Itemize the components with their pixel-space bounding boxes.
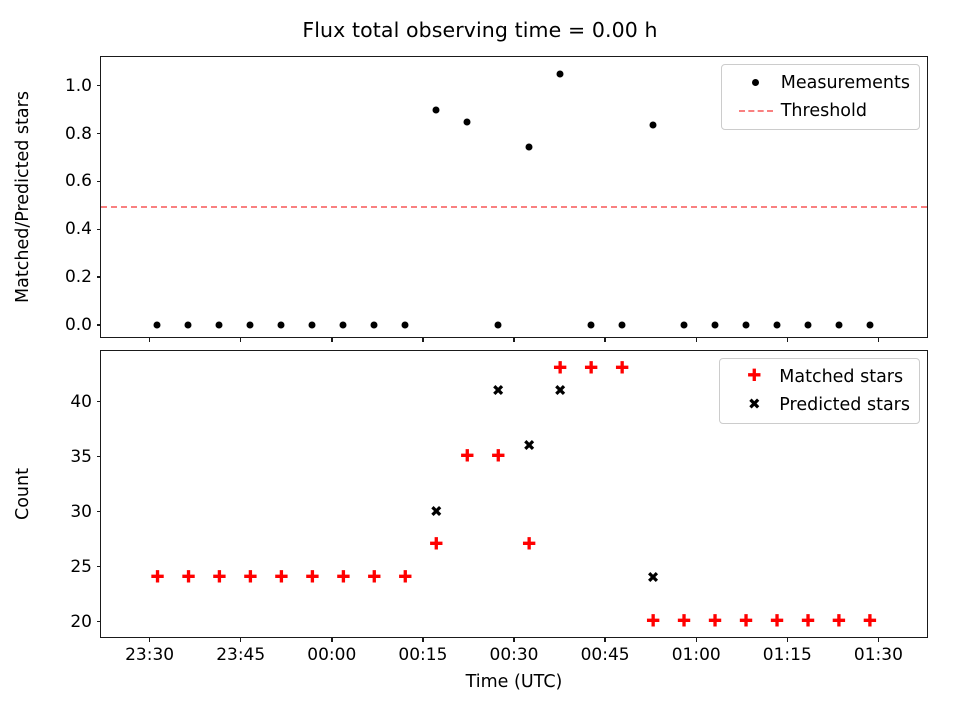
x-axis-tick (604, 637, 605, 642)
y-axis-tick-label: 0.6 (65, 171, 92, 191)
data-point-matched-star: ✚ (274, 569, 288, 586)
x-axis-tick (787, 337, 788, 342)
x-axis-tick (331, 637, 332, 642)
data-point-matched-star: ✚ (460, 448, 474, 465)
y-axis-tick-label: 20 (70, 612, 92, 632)
x-axis-tick-label: 00:30 (490, 645, 539, 665)
y-axis-tick (97, 621, 102, 622)
legend-entry[interactable]: ✖Predicted stars (729, 392, 910, 417)
data-point-measurement (371, 322, 378, 329)
y-axis-tick-label: 0.8 (65, 124, 92, 144)
y-axis-tick (97, 85, 102, 86)
x-axis-tick (149, 637, 150, 642)
data-point-measurement (185, 322, 192, 329)
data-point-predicted-star: ✖ (554, 383, 567, 398)
data-point-measurement (619, 322, 626, 329)
data-point-measurement (712, 322, 719, 329)
data-point-matched-star: ✚ (770, 613, 784, 630)
data-point-matched-star: ✚ (336, 569, 350, 586)
y-axis-tick (97, 456, 102, 457)
top-panel-y-axis-label: Matched/Predicted stars (13, 91, 33, 303)
data-point-measurement (402, 322, 409, 329)
data-point-matched-star: ✚ (522, 536, 536, 553)
x-axis-tick-label: 00:15 (398, 645, 447, 665)
y-axis-tick-label: 40 (70, 392, 92, 412)
y-axis-tick (97, 181, 102, 182)
bottom-panel-axes: Count 202530354023:3023:4500:0000:1500:3… (100, 350, 928, 638)
data-point-matched-star: ✚ (739, 613, 753, 630)
data-point-matched-star: ✚ (491, 448, 505, 465)
data-point-measurement (526, 143, 533, 150)
data-point-measurement (743, 322, 750, 329)
page-title: Flux total observing time = 0.00 h (0, 18, 960, 42)
data-point-measurement (681, 322, 688, 329)
x-axis-tick (422, 337, 423, 342)
x-axis-tick (240, 637, 241, 642)
data-point-measurement (340, 322, 347, 329)
x-axis-tick (604, 337, 605, 342)
data-point-measurement (835, 322, 842, 329)
data-point-measurement (650, 122, 657, 129)
data-point-matched-star: ✚ (863, 613, 877, 630)
legend-entry-label: Matched stars (779, 367, 903, 387)
x-axis-label: Time (UTC) (100, 672, 928, 692)
legend-entry[interactable]: ✚Matched stars (729, 364, 910, 389)
dashed-line-icon (731, 110, 781, 112)
data-point-measurement (773, 322, 780, 329)
legend-entry[interactable]: Measurements (731, 70, 910, 95)
dot-marker-icon (731, 79, 781, 86)
data-point-measurement (866, 322, 873, 329)
y-axis-tick-label: 35 (70, 447, 92, 467)
data-point-matched-star: ✚ (243, 569, 257, 586)
cross-marker-icon: ✖ (729, 397, 779, 412)
x-axis-tick (787, 637, 788, 642)
legend-entry-label: Measurements (781, 73, 910, 93)
x-axis-tick (878, 637, 879, 642)
data-point-matched-star: ✚ (150, 569, 164, 586)
x-axis-tick (513, 637, 514, 642)
x-axis-tick (422, 637, 423, 642)
y-axis-tick-label: 0.0 (65, 315, 92, 335)
legend-entry-label: Predicted stars (779, 395, 910, 415)
data-point-matched-star: ✚ (646, 613, 660, 630)
y-axis-tick (97, 566, 102, 567)
x-axis-tick-label: 23:45 (216, 645, 265, 665)
y-axis-tick (97, 276, 102, 277)
data-point-matched-star: ✚ (429, 536, 443, 553)
top-panel-axes: Matched/Predicted stars 0.00.20.40.60.81… (100, 56, 928, 338)
data-point-predicted-star: ✖ (430, 504, 443, 519)
plus-marker-icon: ✚ (729, 368, 779, 385)
data-point-measurement (464, 118, 471, 125)
figure-canvas: Flux total observing time = 0.00 h Match… (0, 0, 960, 720)
data-point-matched-star: ✚ (832, 613, 846, 630)
threshold-line (101, 206, 927, 208)
data-point-matched-star: ✚ (584, 360, 598, 377)
data-point-matched-star: ✚ (398, 569, 412, 586)
data-point-matched-star: ✚ (212, 569, 226, 586)
data-point-matched-star: ✚ (181, 569, 195, 586)
x-axis-tick (878, 337, 879, 342)
data-point-matched-star: ✚ (615, 360, 629, 377)
y-axis-tick-label: 0.4 (65, 219, 92, 239)
x-axis-tick (513, 337, 514, 342)
data-point-matched-star: ✚ (553, 360, 567, 377)
data-point-measurement (247, 322, 254, 329)
top-panel-legend[interactable]: MeasurementsThreshold (721, 64, 920, 130)
x-axis-tick (331, 337, 332, 342)
data-point-measurement (495, 322, 502, 329)
x-axis-tick (240, 337, 241, 342)
data-point-measurement (433, 106, 440, 113)
data-point-measurement (278, 322, 285, 329)
y-axis-tick (97, 511, 102, 512)
data-point-matched-star: ✚ (708, 613, 722, 630)
data-point-matched-star: ✚ (305, 569, 319, 586)
data-point-measurement (154, 322, 161, 329)
bottom-panel-legend[interactable]: ✚Matched stars✖Predicted stars (719, 358, 920, 424)
data-point-measurement (588, 322, 595, 329)
y-axis-tick (97, 133, 102, 134)
y-axis-tick-label: 1.0 (65, 76, 92, 96)
y-axis-tick (97, 401, 102, 402)
data-point-predicted-star: ✖ (523, 438, 536, 453)
y-axis-tick-label: 30 (70, 502, 92, 522)
x-axis-tick-label: 00:00 (307, 645, 356, 665)
y-axis-tick (97, 324, 102, 325)
x-axis-tick-label: 01:30 (854, 645, 903, 665)
x-axis-tick (149, 337, 150, 342)
data-point-measurement (804, 322, 811, 329)
legend-entry-label: Threshold (781, 101, 867, 121)
x-axis-tick (696, 337, 697, 342)
data-point-measurement (557, 70, 564, 77)
x-axis-tick (696, 637, 697, 642)
data-point-matched-star: ✚ (677, 613, 691, 630)
x-axis-tick-label: 01:00 (672, 645, 721, 665)
data-point-matched-star: ✚ (801, 613, 815, 630)
x-axis-tick-label: 23:30 (125, 645, 174, 665)
legend-entry[interactable]: Threshold (731, 98, 910, 123)
x-axis-tick-label: 01:15 (763, 645, 812, 665)
y-axis-tick (97, 229, 102, 230)
data-point-measurement (309, 322, 316, 329)
data-point-matched-star: ✚ (367, 569, 381, 586)
y-axis-tick-label: 25 (70, 557, 92, 577)
data-point-measurement (216, 322, 223, 329)
bottom-panel-y-axis-label: Count (13, 468, 33, 520)
y-axis-tick-label: 0.2 (65, 267, 92, 287)
data-point-predicted-star: ✖ (492, 383, 505, 398)
x-axis-tick-label: 00:45 (581, 645, 630, 665)
data-point-predicted-star: ✖ (647, 570, 660, 585)
